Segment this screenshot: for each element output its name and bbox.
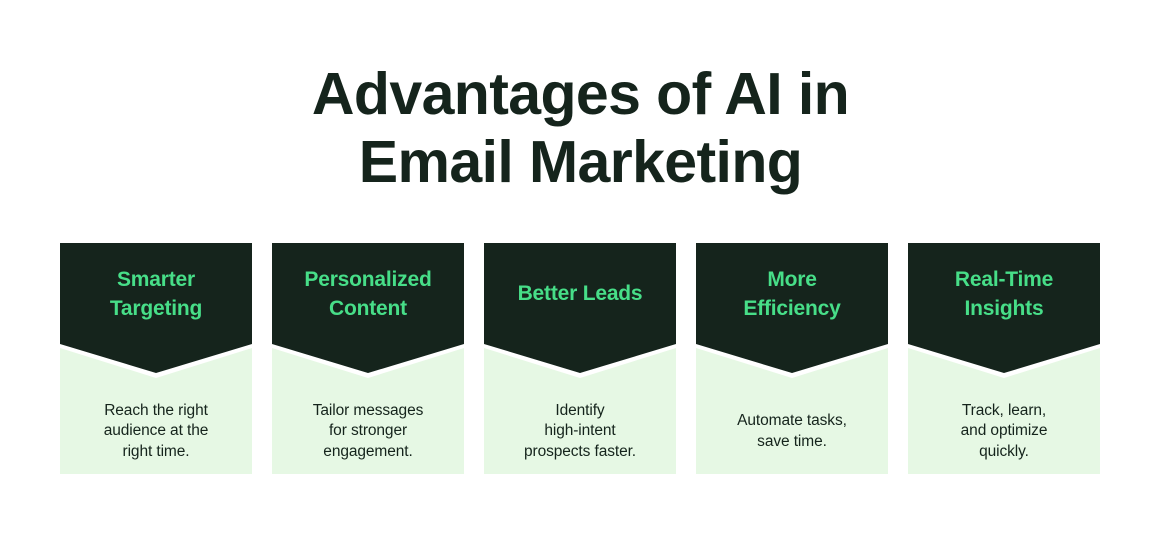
advantage-cards-row: Smarter Targeting Reach the right audien… — [60, 243, 1100, 474]
card-title: More Efficiency — [696, 265, 888, 323]
infographic-canvas: Advantages of AI in Email Marketing Smar… — [0, 0, 1161, 552]
card-header-inner: Smarter Targeting — [60, 265, 252, 323]
card-description: Track, learn, and optimize quickly. — [908, 401, 1100, 463]
card-title: Real-Time Insights — [908, 265, 1100, 323]
card-header-inner: Better Leads — [484, 279, 676, 308]
advantage-card-more-efficiency[interactable]: More Efficiency Automate tasks, save tim… — [696, 243, 888, 474]
card-header-banner: Personalized Content — [272, 243, 464, 373]
page-title: Advantages of AI in Email Marketing — [0, 60, 1161, 196]
page-title-line-1: Advantages of AI in — [0, 60, 1161, 128]
card-title: Better Leads — [484, 279, 676, 308]
card-description: Reach the right audience at the right ti… — [60, 401, 252, 463]
card-description: Automate tasks, save time. — [696, 411, 888, 452]
card-header-banner: Smarter Targeting — [60, 243, 252, 373]
card-title: Personalized Content — [272, 265, 464, 323]
card-description: Identify high-intent prospects faster. — [484, 401, 676, 463]
card-header-banner: Real-Time Insights — [908, 243, 1100, 373]
advantage-card-better-leads[interactable]: Better Leads Identify high-intent prospe… — [484, 243, 676, 474]
card-header-inner: More Efficiency — [696, 265, 888, 323]
card-title: Smarter Targeting — [60, 265, 252, 323]
card-header-inner: Personalized Content — [272, 265, 464, 323]
advantage-card-real-time-insights[interactable]: Real-Time Insights Track, learn, and opt… — [908, 243, 1100, 474]
advantage-card-personalized-content[interactable]: Personalized Content Tailor messages for… — [272, 243, 464, 474]
card-header-banner: More Efficiency — [696, 243, 888, 373]
card-header-banner: Better Leads — [484, 243, 676, 373]
page-title-line-2: Email Marketing — [0, 128, 1161, 196]
advantage-card-smarter-targeting[interactable]: Smarter Targeting Reach the right audien… — [60, 243, 252, 474]
card-description: Tailor messages for stronger engagement. — [272, 401, 464, 463]
card-header-inner: Real-Time Insights — [908, 265, 1100, 323]
